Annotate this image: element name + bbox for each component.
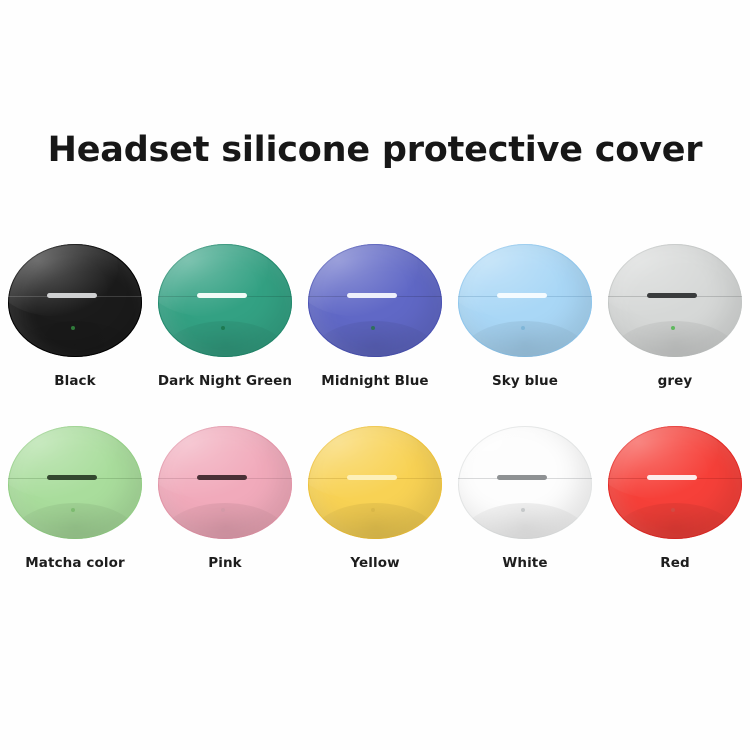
color-swatch-label: White [502,555,547,571]
case-body [8,426,142,539]
color-swatch-matcha-color[interactable]: Matcha color [0,420,150,602]
case-highlight [308,244,418,316]
led-indicator-dot [71,508,75,512]
case-shadow [458,321,592,357]
lid-slot [197,475,247,480]
color-swatch-sky-blue[interactable]: Sky blue [450,238,600,420]
led-indicator-dot [521,326,525,330]
case-highlight [458,244,568,316]
case-body [8,244,142,357]
color-swatch-yellow[interactable]: Yellow [300,420,450,602]
case-shadow [608,321,742,357]
lid-slot [497,293,547,298]
case-shadow [608,503,742,539]
color-swatch-dark-night-green[interactable]: Dark Night Green [150,238,300,420]
color-swatch-label: Red [660,555,690,571]
case-body [458,244,592,357]
color-swatch-pink[interactable]: Pink [150,420,300,602]
lid-slot [47,293,97,298]
case-shadow [158,503,292,539]
case-highlight [158,426,268,498]
earbud-case-illustration [450,238,600,363]
case-body [608,244,742,357]
case-shadow [8,321,142,357]
case-shadow [8,503,142,539]
led-indicator-dot [221,326,225,330]
case-highlight [158,244,268,316]
case-body [458,426,592,539]
led-indicator-dot [371,508,375,512]
case-shadow [158,321,292,357]
color-swatch-label: Midnight Blue [321,373,428,389]
earbud-case-illustration [600,238,750,363]
case-body [608,426,742,539]
earbud-case-illustration [150,420,300,545]
earbud-case-illustration [0,420,150,545]
case-shadow [308,503,442,539]
product-image-canvas: Headset silicone protective cover BlackD… [0,0,750,750]
lid-slot [497,475,547,480]
led-indicator-dot [371,326,375,330]
color-swatch-label: Matcha color [25,555,124,571]
color-swatch-label: Dark Night Green [158,373,292,389]
color-swatch-grid: BlackDark Night GreenMidnight BlueSky bl… [0,238,750,602]
swatch-row-1: BlackDark Night GreenMidnight BlueSky bl… [0,238,750,420]
earbud-case-illustration [600,420,750,545]
color-swatch-red[interactable]: Red [600,420,750,602]
earbud-case-illustration [450,420,600,545]
earbud-case-illustration [300,238,450,363]
led-indicator-dot [71,326,75,330]
color-swatch-label: Black [54,373,96,389]
case-body [308,244,442,357]
earbud-case-illustration [0,238,150,363]
case-highlight [308,426,418,498]
page-title: Headset silicone protective cover [0,128,750,172]
led-indicator-dot [671,508,675,512]
lid-slot [647,475,697,480]
lid-slot [347,293,397,298]
case-highlight [608,426,718,498]
case-shadow [308,321,442,357]
color-swatch-label: Yellow [350,555,399,571]
lid-slot [197,293,247,298]
color-swatch-label: Pink [208,555,242,571]
color-swatch-black[interactable]: Black [0,238,150,420]
case-highlight [608,244,718,316]
lid-slot [47,475,97,480]
case-highlight [8,244,118,316]
lid-slot [347,475,397,480]
case-highlight [458,426,568,498]
led-indicator-dot [671,326,675,330]
case-highlight [8,426,118,498]
swatch-row-2: Matcha colorPinkYellowWhiteRed [0,420,750,602]
color-swatch-midnight-blue[interactable]: Midnight Blue [300,238,450,420]
color-swatch-label: Sky blue [492,373,558,389]
lid-slot [647,293,697,298]
case-body [158,426,292,539]
color-swatch-label: grey [658,373,693,389]
earbud-case-illustration [300,420,450,545]
earbud-case-illustration [150,238,300,363]
case-body [308,426,442,539]
led-indicator-dot [221,508,225,512]
color-swatch-white[interactable]: White [450,420,600,602]
case-shadow [458,503,592,539]
case-body [158,244,292,357]
color-swatch-grey[interactable]: grey [600,238,750,420]
led-indicator-dot [521,508,525,512]
